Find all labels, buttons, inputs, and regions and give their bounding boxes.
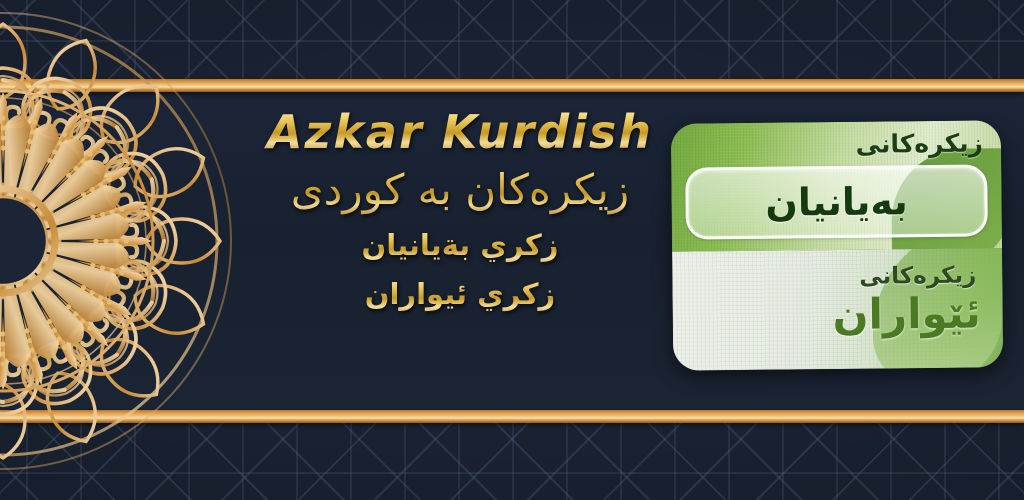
banner-text-block: Azkar Kurdish زیکرەکان بە کوردی زكري بةي… (250, 108, 670, 317)
app-banner: Azkar Kurdish زیکرەکان بە کوردی زكري بةي… (0, 0, 1024, 500)
bottom-pattern-strip (0, 422, 1024, 500)
top-pattern-strip (0, 0, 1024, 80)
gold-divider-top (0, 79, 1024, 92)
app-screenshot-preview[interactable]: زیکرەکانی بەیانیان زیکرەکانی ئێواران (671, 120, 1004, 370)
morning-card-heading: بەیانیان (765, 179, 908, 224)
islamic-lattice-pattern-bottom (0, 422, 1024, 500)
evening-card-caption: زیکرەکانی (859, 263, 976, 290)
page-title-english: Azkar Kurdish (250, 108, 670, 156)
subtitle-evening: زكري ئيواران (250, 272, 670, 317)
morning-azkar-card[interactable]: زیکرەکانی بەیانیان (671, 120, 1002, 251)
morning-card-pill[interactable]: بەیانیان (685, 164, 988, 239)
page-title-kurdish: زیکرەکان بە کوردی (250, 162, 670, 219)
morning-card-caption: زیکرەکانی (856, 128, 984, 158)
subtitle-morning: زكري بةيانيان (250, 223, 670, 268)
gold-divider-bottom (0, 410, 1024, 423)
islamic-lattice-pattern-top (0, 0, 1024, 80)
evening-azkar-card[interactable]: زیکرەکانی ئێواران (672, 248, 1003, 370)
evening-card-heading: ئێواران (832, 289, 981, 340)
